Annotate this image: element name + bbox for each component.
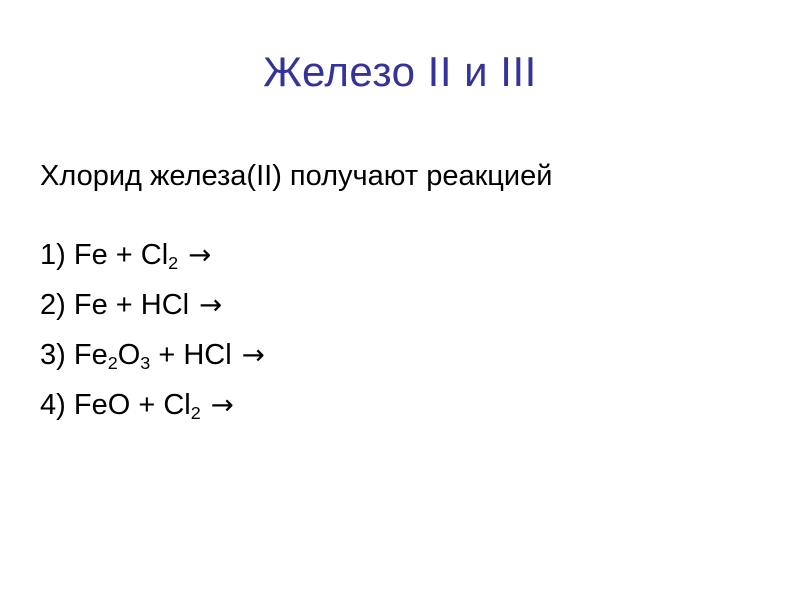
reactant-b-3: HCl xyxy=(183,339,231,371)
reaction-arrow-icon-1: → xyxy=(186,239,211,271)
equation-number-2: 2) xyxy=(40,289,66,321)
reactant-a-1: Fe xyxy=(74,239,108,271)
equation-row-2: 2) Fe + HCl → xyxy=(40,280,760,330)
reactant-a-2: Fe xyxy=(74,289,108,321)
equation-list: 1) Fe + Cl2 → 2) Fe + HCl → 3) xyxy=(40,230,760,430)
operator-2: + xyxy=(116,289,133,321)
slide-title: Железо II и III xyxy=(0,46,800,98)
slide-canvas: Железо II и III Хлорид железа(II) получа… xyxy=(0,0,800,600)
equation-number-1: 1) xyxy=(40,239,66,271)
operator-1: + xyxy=(116,239,133,271)
operator-4: + xyxy=(138,389,155,421)
equation-row-4: 4) FeO + Cl2 → xyxy=(40,380,760,430)
equation-formula-3: Fe2O3 + HCl → xyxy=(74,339,265,371)
equation-row-3: 3) Fe2O3 + HCl → xyxy=(40,330,760,380)
reactant-b-1: Cl2 xyxy=(141,239,178,271)
equation-formula-4: FeO + Cl2 → xyxy=(74,389,234,421)
reaction-arrow-icon-3: → xyxy=(240,339,265,371)
subscript: 3 xyxy=(140,353,150,373)
reactant-b-4: Cl2 xyxy=(163,389,200,421)
reactant-a-3: Fe2O3 xyxy=(74,339,150,371)
reactant-b-2: HCl xyxy=(141,289,189,321)
operator-3: + xyxy=(158,339,175,371)
subscript: 2 xyxy=(108,353,118,373)
equation-formula-1: Fe + Cl2 → xyxy=(74,239,211,271)
reaction-arrow-icon-4: → xyxy=(209,389,234,421)
equation-row-1: 1) Fe + Cl2 → xyxy=(40,230,760,280)
lead-statement: Хлорид железа(II) получают реакцией xyxy=(40,158,760,194)
reactant-a-4: FeO xyxy=(74,389,130,421)
equation-formula-2: Fe + HCl → xyxy=(74,289,222,321)
subscript: 2 xyxy=(191,403,201,423)
reaction-arrow-icon-2: → xyxy=(197,289,222,321)
equation-number-4: 4) xyxy=(40,389,66,421)
equation-number-3: 3) xyxy=(40,339,66,371)
subscript: 2 xyxy=(168,253,178,273)
slide-body: Хлорид железа(II) получают реакцией 1) F… xyxy=(40,158,760,430)
